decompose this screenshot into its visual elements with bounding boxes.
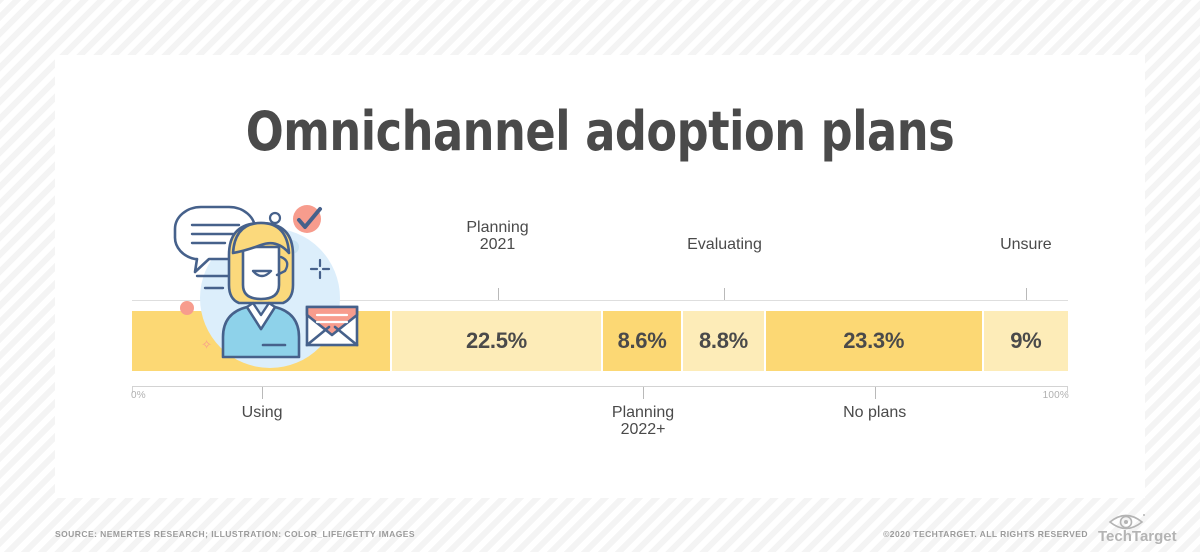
eye-icon: [1110, 514, 1145, 529]
chart-card: Omnichannel adoption plans Planning2021E…: [55, 55, 1145, 498]
tick-evaluating: [724, 288, 725, 300]
category-label-line2: 2021: [466, 236, 528, 253]
category-label-unsure: Unsure: [1000, 236, 1052, 253]
tick-planning-2022: [643, 387, 644, 399]
page-title: Omnichannel adoption plans: [99, 100, 1102, 163]
bar-segment-unsure[interactable]: 9%: [984, 311, 1068, 371]
axis-max-label: 100%: [1043, 390, 1069, 401]
tick-no-plans: [875, 387, 876, 399]
axis-min-label: 0%: [131, 390, 146, 401]
footer-copyright-text: ©2020 TECHTARGET. ALL RIGHTS RESERVED: [883, 529, 1088, 539]
check-badge-circle: [293, 205, 321, 233]
category-label-using: Using: [242, 404, 283, 421]
tick-unsure: [1026, 288, 1027, 300]
category-label-evaluating: Evaluating: [687, 236, 762, 253]
bar-value-label: 23.3%: [843, 328, 904, 354]
category-label-line2: 2022+: [612, 421, 674, 438]
outline-dot: [270, 213, 280, 223]
techtarget-logo: TechTarget: [1096, 508, 1188, 546]
category-label-planning-2021: Planning2021: [466, 219, 528, 253]
tick-planning-2021: [498, 288, 499, 300]
customer-service-agent-illustration: [167, 195, 367, 390]
bar-value-label: 8.8%: [699, 328, 748, 354]
bar-segment-planning-2021[interactable]: 22.5%: [392, 311, 603, 371]
bar-segment-planning-2022[interactable]: 8.6%: [603, 311, 683, 371]
techtarget-wordmark: TechTarget: [1098, 528, 1177, 545]
footer-source-text: SOURCE: NEMERTES RESEARCH; ILLUSTRATION:…: [55, 529, 415, 539]
envelope-icon: [307, 307, 357, 345]
bar-value-label: 9%: [1010, 328, 1041, 354]
category-label-no-plans: No plans: [843, 404, 906, 421]
salmon-dot-left: [180, 301, 194, 315]
bar-value-label: 22.5%: [466, 328, 527, 354]
category-label-planning-2022: Planning2022+: [612, 404, 674, 438]
category-label-line1: Planning: [612, 404, 674, 421]
bar-segment-evaluating[interactable]: 8.8%: [683, 311, 765, 371]
bar-segment-no-plans[interactable]: 23.3%: [766, 311, 984, 371]
category-label-line1: Planning: [466, 219, 528, 236]
bar-value-label: 8.6%: [618, 328, 667, 354]
